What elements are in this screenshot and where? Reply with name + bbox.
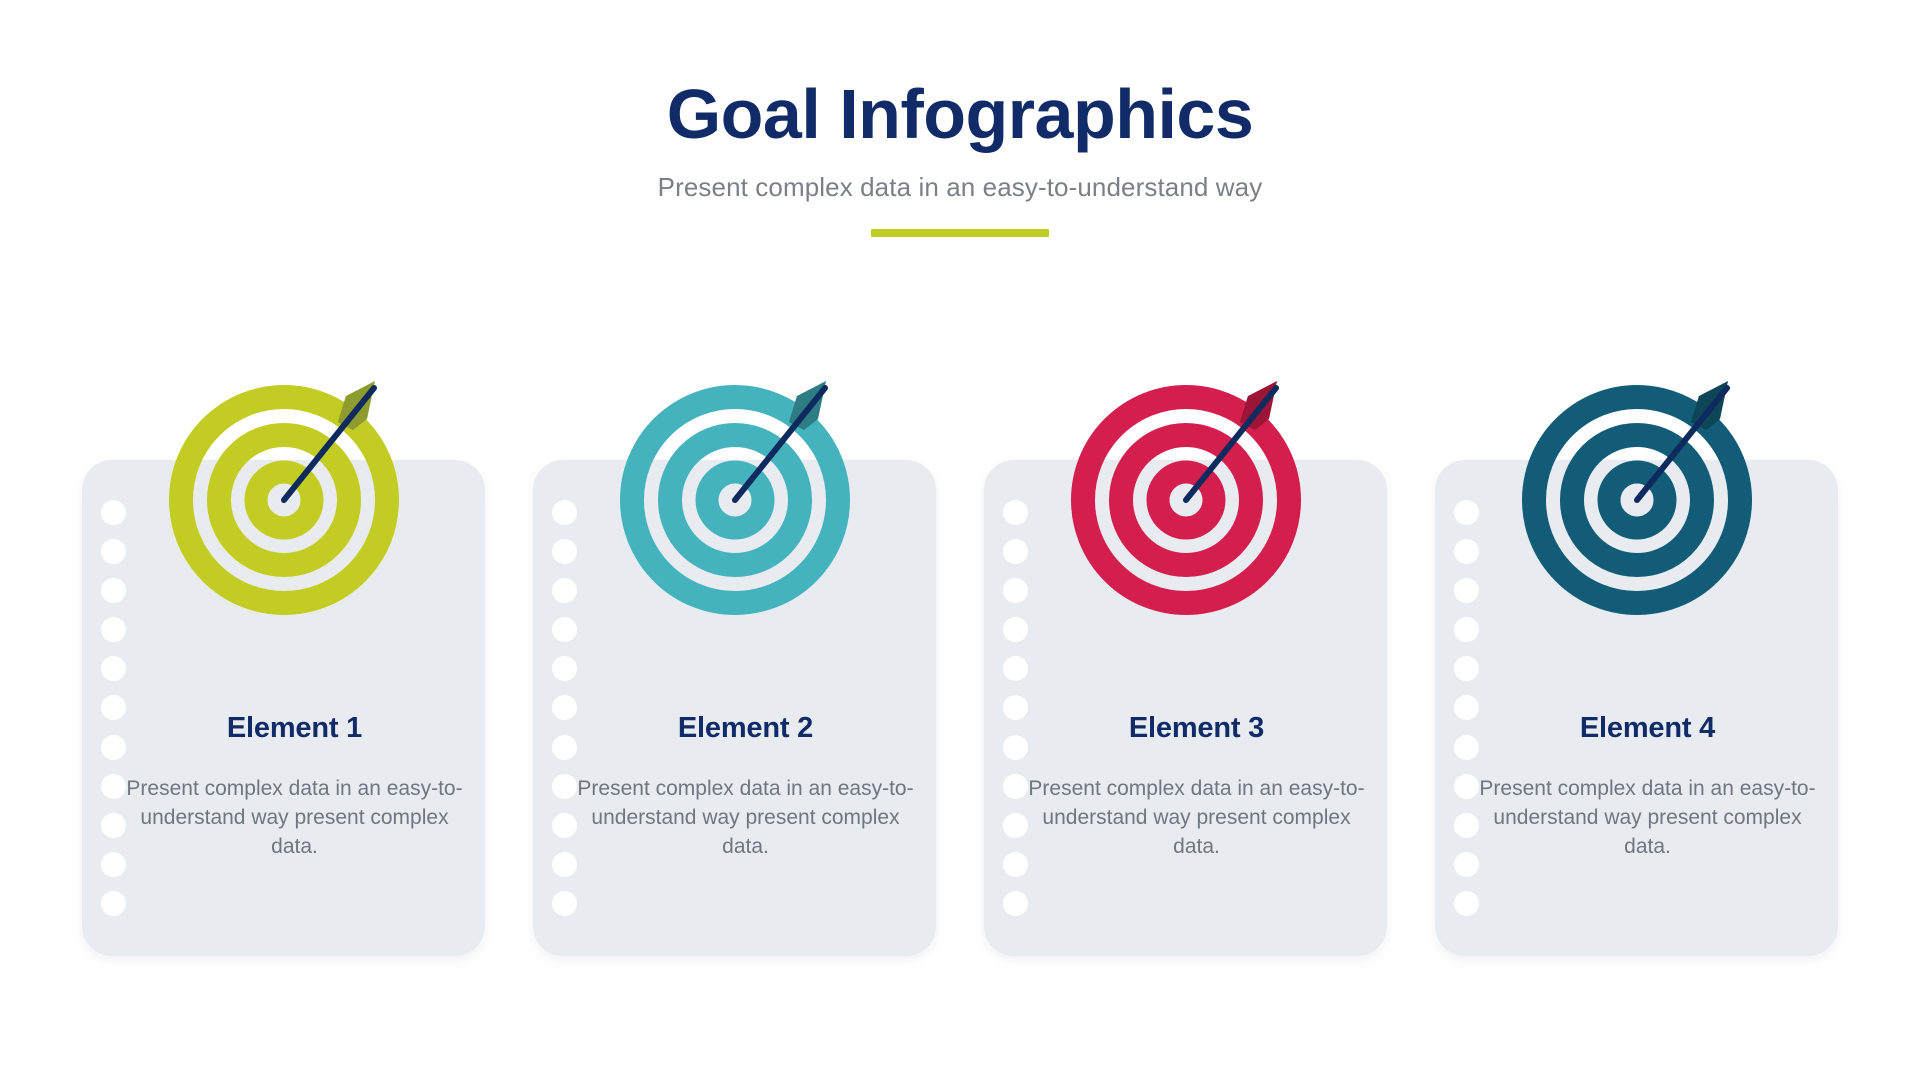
punch-hole bbox=[552, 656, 577, 681]
punch-hole bbox=[1003, 578, 1028, 603]
card-description: Present complex data in an easy-to-under… bbox=[126, 775, 463, 862]
card-body: Element 3Present complex data in an easy… bbox=[1028, 712, 1365, 862]
card-description: Present complex data in an easy-to-under… bbox=[1479, 775, 1816, 862]
card-icon bbox=[1487, 350, 1787, 650]
punch-hole bbox=[552, 539, 577, 564]
target-bullseye-icon bbox=[134, 350, 434, 650]
card-title: Element 2 bbox=[577, 712, 914, 745]
card-icon bbox=[134, 350, 434, 650]
punch-hole bbox=[1454, 735, 1479, 760]
element-card[interactable]: Element 2Present complex data in an easy… bbox=[533, 460, 936, 956]
punch-hole bbox=[1454, 578, 1479, 603]
card-title: Element 4 bbox=[1479, 712, 1816, 745]
punch-hole bbox=[1003, 813, 1028, 838]
punch-hole-strip bbox=[998, 500, 1032, 916]
punch-hole bbox=[1003, 891, 1028, 916]
target-bullseye-icon bbox=[1036, 350, 1336, 650]
punch-hole bbox=[101, 813, 126, 838]
title-divider bbox=[871, 229, 1049, 237]
punch-hole bbox=[1454, 617, 1479, 642]
punch-hole bbox=[1003, 735, 1028, 760]
card-body: Element 1Present complex data in an easy… bbox=[126, 712, 463, 862]
target-bullseye-icon bbox=[1487, 350, 1787, 650]
punch-hole bbox=[1454, 539, 1479, 564]
card-title: Element 3 bbox=[1028, 712, 1365, 745]
card-icon bbox=[585, 350, 885, 650]
punch-hole bbox=[1454, 852, 1479, 877]
punch-hole bbox=[1454, 891, 1479, 916]
header: Goal Infographics Present complex data i… bbox=[0, 78, 1920, 237]
slide-canvas: Goal Infographics Present complex data i… bbox=[0, 0, 1920, 1080]
card-title: Element 1 bbox=[126, 712, 463, 745]
punch-hole-strip bbox=[96, 500, 130, 916]
target-bullseye-icon bbox=[585, 350, 885, 650]
card-body: Element 2Present complex data in an easy… bbox=[577, 712, 914, 862]
card-body: Element 4Present complex data in an easy… bbox=[1479, 712, 1816, 862]
punch-hole bbox=[1454, 656, 1479, 681]
punch-hole bbox=[552, 695, 577, 720]
card-icon bbox=[1036, 350, 1336, 650]
punch-hole bbox=[101, 539, 126, 564]
punch-hole bbox=[552, 774, 577, 799]
punch-hole bbox=[101, 774, 126, 799]
punch-hole bbox=[1003, 774, 1028, 799]
punch-hole-strip bbox=[1449, 500, 1483, 916]
punch-hole bbox=[552, 735, 577, 760]
punch-hole bbox=[101, 617, 126, 642]
punch-hole bbox=[1003, 539, 1028, 564]
punch-hole bbox=[552, 617, 577, 642]
punch-hole bbox=[101, 735, 126, 760]
punch-hole bbox=[1003, 500, 1028, 525]
punch-hole bbox=[1454, 695, 1479, 720]
element-card[interactable]: Element 1Present complex data in an easy… bbox=[82, 460, 485, 956]
punch-hole bbox=[101, 852, 126, 877]
element-card[interactable]: Element 3Present complex data in an easy… bbox=[984, 460, 1387, 956]
punch-hole bbox=[552, 852, 577, 877]
cards-row: Element 1Present complex data in an easy… bbox=[0, 460, 1920, 960]
punch-hole bbox=[1003, 656, 1028, 681]
punch-hole bbox=[101, 578, 126, 603]
punch-hole bbox=[1454, 500, 1479, 525]
punch-hole bbox=[1003, 695, 1028, 720]
punch-hole bbox=[1003, 617, 1028, 642]
punch-hole bbox=[101, 656, 126, 681]
punch-hole bbox=[101, 695, 126, 720]
card-description: Present complex data in an easy-to-under… bbox=[1028, 775, 1365, 862]
page-subtitle: Present complex data in an easy-to-under… bbox=[0, 172, 1920, 203]
punch-hole bbox=[1454, 774, 1479, 799]
punch-hole bbox=[101, 500, 126, 525]
punch-hole bbox=[552, 578, 577, 603]
punch-hole bbox=[1003, 852, 1028, 877]
punch-hole bbox=[552, 891, 577, 916]
punch-hole-strip bbox=[547, 500, 581, 916]
element-card[interactable]: Element 4Present complex data in an easy… bbox=[1435, 460, 1838, 956]
punch-hole bbox=[552, 813, 577, 838]
punch-hole bbox=[1454, 813, 1479, 838]
page-title: Goal Infographics bbox=[0, 78, 1920, 152]
card-description: Present complex data in an easy-to-under… bbox=[577, 775, 914, 862]
punch-hole bbox=[101, 891, 126, 916]
punch-hole bbox=[552, 500, 577, 525]
